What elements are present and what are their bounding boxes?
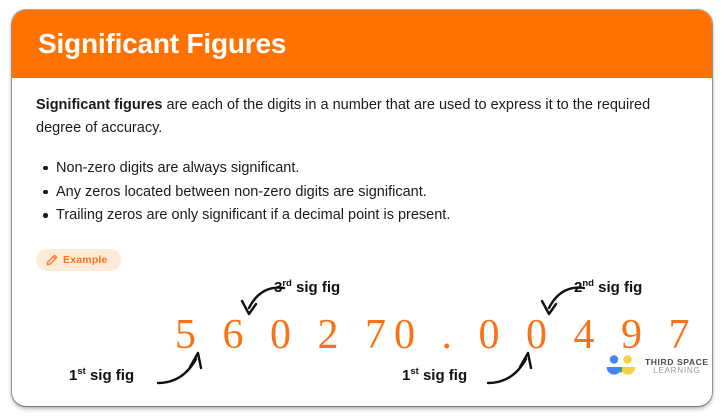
annotation-1st-sig-fig-left: 1st sig fig: [69, 368, 134, 383]
logo-text: THIRD SPACE LEARNING: [645, 358, 709, 376]
logo-mark-icon: [604, 354, 638, 380]
annotation-text: sig fig: [419, 367, 467, 384]
arrow-down-left-2nd-icon: [532, 284, 588, 324]
annotation-suffix: st: [77, 366, 85, 377]
arrow-down-left-3rd-icon: [232, 284, 288, 324]
card-header: Significant Figures: [12, 10, 712, 78]
list-item: Non-zero digits are always significant.: [56, 157, 686, 181]
card-body: Significant figures are each of the digi…: [12, 78, 712, 271]
example-figure: 5 6 0 2 7 0 . 0 0 4 9 7 3rd sig fig 2nd …: [12, 256, 712, 406]
intro-paragraph: Significant figures are each of the digi…: [36, 94, 684, 141]
list-item: Any zeros located between non-zero digit…: [56, 181, 686, 205]
annotation-text: sig fig: [86, 367, 134, 384]
arrow-up-right-1st-left-icon: [154, 351, 214, 391]
page-title: Significant Figures: [38, 30, 286, 58]
annotation-1st-sig-fig-right: 1st sig fig: [402, 368, 467, 383]
third-space-learning-logo: THIRD SPACE LEARNING: [604, 354, 709, 380]
list-item: Trailing zeros are only significant if a…: [56, 204, 686, 228]
rules-list: Non-zero digits are always significant. …: [36, 157, 686, 228]
screenshot-root: Significant Figures Significant figures …: [0, 0, 724, 420]
lesson-card: Significant Figures Significant figures …: [12, 10, 712, 406]
annotation-text: sig fig: [292, 279, 340, 296]
logo-line-2: LEARNING: [645, 367, 709, 376]
arrow-up-right-1st-right-icon: [484, 351, 544, 391]
annotation-text: sig fig: [594, 279, 642, 296]
intro-bold-term: Significant figures: [36, 97, 163, 113]
annotation-suffix: st: [410, 366, 418, 377]
